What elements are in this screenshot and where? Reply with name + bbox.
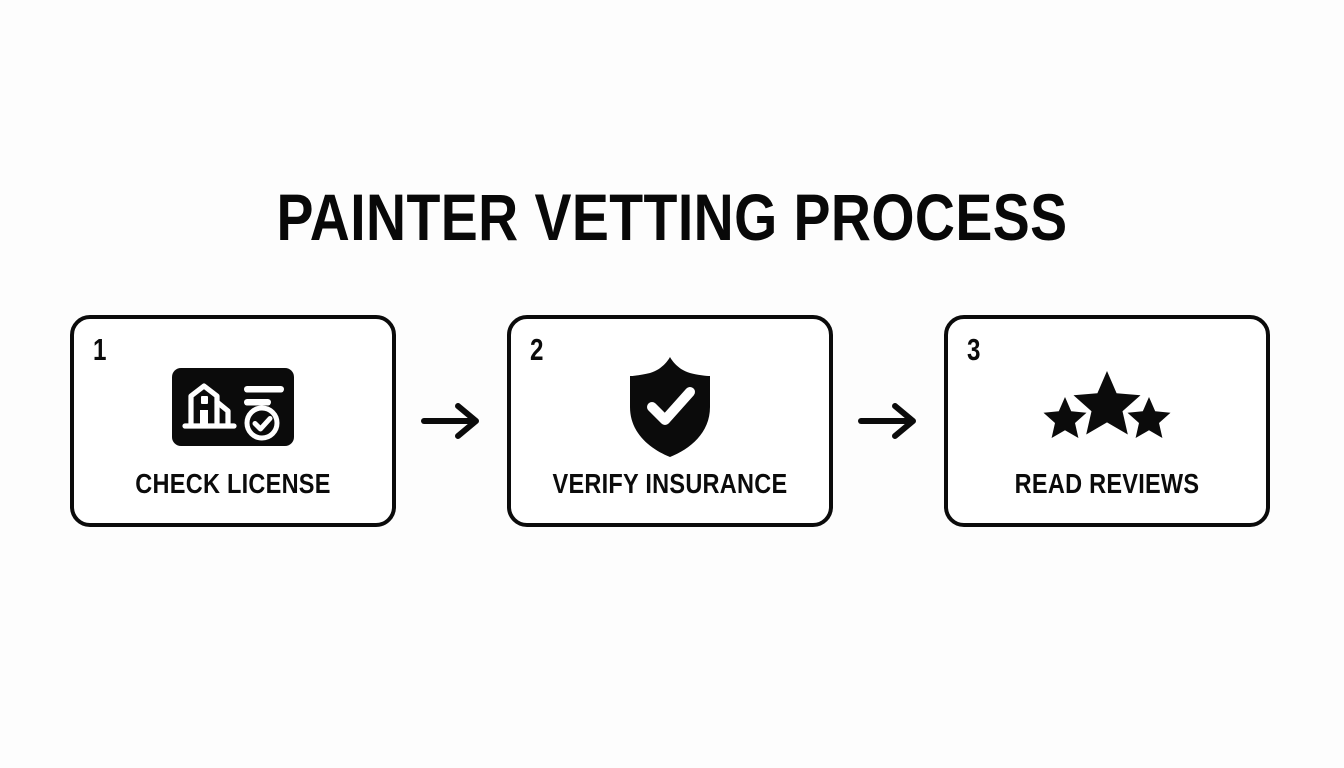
process-flow-row: 1 — [70, 315, 1270, 527]
page-title: PAINTER VETTING PROCESS — [108, 184, 1237, 250]
step-card-2[interactable]: 2 VERIFY INSURANCE — [507, 315, 833, 527]
license-card-icon — [74, 353, 392, 461]
step-label-3: READ REVIEWS — [973, 470, 1240, 498]
step-label-2: VERIFY INSURANCE — [536, 470, 803, 498]
step-card-3[interactable]: 3 READ REVIEWS — [944, 315, 1270, 527]
shield-check-icon — [511, 353, 829, 461]
step-label-1: CHECK LICENSE — [99, 470, 366, 498]
three-stars-icon — [948, 353, 1266, 461]
arrow-right-icon-1 — [417, 397, 487, 445]
arrow-right-icon-2 — [854, 397, 924, 445]
step-card-1[interactable]: 1 — [70, 315, 396, 527]
infographic-canvas: PAINTER VETTING PROCESS 1 — [0, 0, 1344, 768]
